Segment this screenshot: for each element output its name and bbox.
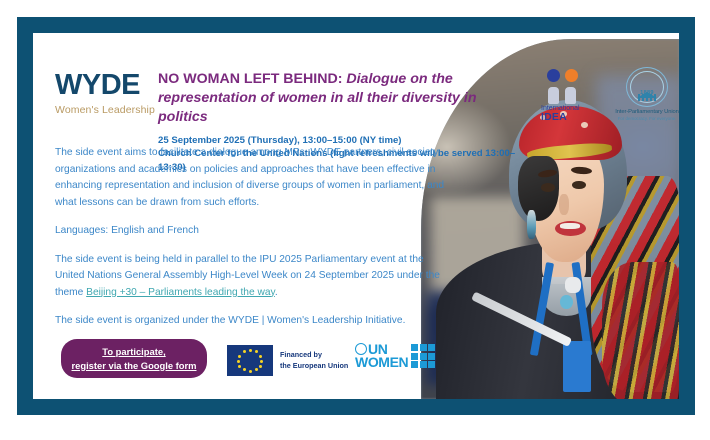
event-title-lead: NO WOMAN LEFT BEHIND:	[158, 71, 342, 87]
ipu-emblem-icon: 1889	[626, 67, 668, 107]
idea-body-left-icon	[548, 87, 559, 104]
headscarf-tail-lower	[602, 262, 679, 399]
eu-funding-text: Financed by the European Union	[280, 350, 348, 370]
paragraph-organizer: The side event is organized under the WY…	[55, 313, 455, 330]
register-button-line1: To participate,	[65, 345, 203, 359]
eu-flag-icon	[227, 345, 273, 376]
poster-body-copy: The side event aims to facilitate a dial…	[55, 145, 455, 330]
idea-body-right-icon	[565, 87, 576, 104]
register-button[interactable]: To participate, register via the Google …	[61, 339, 207, 378]
paragraph-languages: Languages: English and French	[55, 223, 455, 240]
paragraph-parallel-event: The side event is being held in parallel…	[55, 252, 455, 302]
idea-figure-bodies	[541, 87, 597, 104]
poster-border-frame: WYDE Women's Leadership NO WOMAN LEFT BE…	[17, 17, 695, 415]
paragraph-parallel-text-after: .	[275, 287, 278, 298]
event-title: NO WOMAN LEFT BEHIND: Dialogue on the re…	[158, 70, 528, 128]
paragraph-aims: The side event aims to facilitate a dial…	[55, 145, 455, 211]
idea-name-big: IDEA	[541, 112, 597, 123]
idea-wordmark: International IDEA	[541, 105, 597, 123]
un-women-line2: WOMEN	[355, 354, 408, 370]
poster-footer: To participate, register via the Google …	[55, 337, 455, 383]
inter-parliamentary-union-logo: 1889 Inter-Parliamentary Union For democ…	[611, 67, 679, 125]
eu-funding-line1: Financed by	[280, 350, 348, 360]
microphone-head	[565, 277, 580, 293]
subject-eye-left	[541, 183, 555, 192]
beijing-theme-link[interactable]: Beijing +30 – Parliaments leading the wa…	[86, 287, 275, 298]
eu-funding-line2: the European Union	[280, 361, 348, 371]
un-women-grid-icon	[411, 344, 435, 368]
european-union-funding-logo: Financed by the European Union	[227, 345, 348, 376]
subject-earring	[527, 210, 536, 239]
subject-nose	[559, 194, 569, 216]
subject-necklace-gem	[560, 295, 573, 309]
subject-teeth	[560, 223, 579, 228]
un-emblem-icon	[355, 343, 367, 355]
ipu-tagline: For democracy. For everyone.	[611, 116, 679, 121]
wyde-logo: WYDE Women's Leadership	[55, 71, 165, 116]
un-women-logo: UN WOMEN	[355, 343, 435, 370]
idea-head-blue-icon	[547, 69, 560, 82]
ipu-parliament-building-icon	[637, 75, 657, 89]
poster-header: WYDE Women's Leadership NO WOMAN LEFT BE…	[33, 33, 679, 119]
register-button-line2: register via the Google form	[65, 359, 203, 373]
international-idea-logo: International IDEA	[541, 69, 597, 125]
wyde-wordmark: WYDE	[55, 71, 165, 100]
ipu-name: Inter-Parliamentary Union	[611, 109, 679, 115]
conference-badge	[563, 341, 591, 391]
ipu-founding-year: 1889	[626, 90, 668, 96]
idea-figure-heads	[541, 69, 597, 85]
poster-card: WYDE Women's Leadership NO WOMAN LEFT BE…	[33, 33, 679, 399]
idea-head-orange-icon	[565, 69, 578, 82]
un-women-wordmark: UN WOMEN	[355, 343, 408, 370]
wyde-tagline: Women's Leadership	[55, 104, 165, 116]
